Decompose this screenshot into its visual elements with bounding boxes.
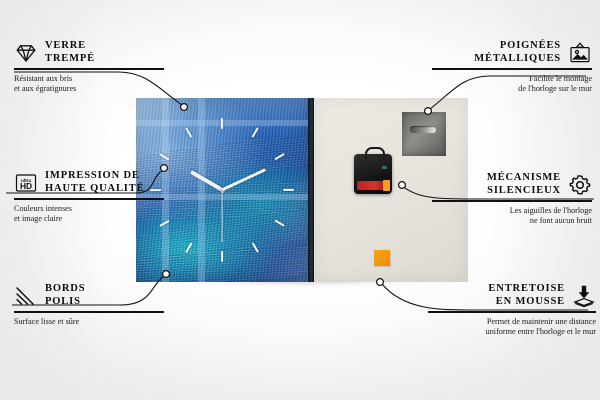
clock-hand-sec [221, 190, 222, 242]
callout-bords-polis[interactable]: BORDS POLIS Surface lisse et sûre [14, 283, 164, 327]
callout-divider [14, 68, 164, 70]
callout-mecanisme-silencieux[interactable]: MÉCANISME SILENCIEUX Les aiguilles de l'… [432, 172, 592, 226]
ultra-hd-large-text: HD [20, 181, 32, 191]
foam-spacer-pad [374, 250, 390, 266]
movement-hook-loop [365, 147, 385, 159]
clock-hour-marker [252, 242, 259, 253]
foam-spacer-icon [572, 284, 596, 308]
callout-desc-line1: Surface lisse et sûre [14, 317, 79, 326]
callout-title-line2: HAUTE QUALITÉ [45, 183, 144, 194]
callout-desc-line2: et aux égratignures [14, 84, 76, 93]
callout-title-line2: EN MOUSSE [496, 296, 565, 307]
callout-desc-line2: ne font aucun bruit [530, 216, 592, 225]
clock-hand-hour [190, 170, 223, 191]
callout-desc-line1: Permet de maintenir une distance [487, 317, 596, 326]
polished-edge-icon [14, 284, 38, 308]
ultra-hd-icon: ultra HD [14, 171, 38, 195]
clock-hour-marker [252, 127, 259, 138]
callout-divider [14, 311, 164, 313]
callout-entretoise-en-mousse[interactable]: ENTRETOISE EN MOUSSE Permet de maintenir… [428, 283, 596, 337]
movement-label [382, 166, 387, 169]
callout-desc-line1: Les aiguilles de l'horloge [510, 206, 592, 215]
callout-desc-line1: Résistant aux bris [14, 74, 72, 83]
clock-hour-marker [159, 153, 170, 160]
battery [357, 181, 389, 190]
clock-hour-marker [283, 189, 294, 191]
callout-title-line1: MÉCANISME [487, 172, 561, 183]
hanger-keyhole-slot [410, 126, 436, 133]
diamond-icon [14, 41, 38, 65]
callout-desc-line1: Facilite le montage [529, 74, 592, 83]
clock-hour-marker [185, 127, 192, 138]
callout-title-line2: MÉTALLIQUES [474, 53, 561, 64]
callout-title-line1: VERRE [45, 40, 86, 51]
gear-icon [568, 173, 592, 197]
callout-desc-line2: et image claire [14, 214, 62, 223]
clock-hour-marker [221, 118, 223, 129]
callout-title-line1: ENTRETOISE [488, 283, 565, 294]
clock-hand-min [221, 168, 266, 191]
callout-desc-line2: de l'horloge sur le mur [518, 84, 592, 93]
metal-hanger-plate [402, 112, 446, 156]
callout-title-line1: IMPRESSION DE [45, 170, 140, 181]
callout-divider [432, 68, 592, 70]
callout-divider [432, 200, 592, 202]
callout-poignees-metalliques[interactable]: POIGNÉES MÉTALLIQUES Facilite le montage… [432, 40, 592, 94]
callout-title-line1: POIGNÉES [500, 40, 561, 51]
callout-title-line1: BORDS [45, 283, 85, 294]
callout-title-line2: POLIS [45, 296, 81, 307]
hanging-frame-icon [568, 41, 592, 65]
callout-title-line2: SILENCIEUX [487, 185, 561, 196]
callout-divider [428, 311, 596, 313]
clock-movement-box [354, 154, 392, 194]
clock-hour-marker [185, 242, 192, 253]
callout-divider [14, 198, 164, 200]
infographic-canvas: VERRE TREMPÉ Résistant aux bris et aux é… [0, 0, 600, 400]
product-image [136, 98, 468, 282]
clock-hour-marker [274, 220, 285, 227]
callout-verre-trempe[interactable]: VERRE TREMPÉ Résistant aux bris et aux é… [14, 40, 164, 94]
callout-desc-line2: uniforme entre l'horloge et le mur [486, 327, 596, 336]
battery-terminal [383, 180, 390, 191]
clock-hour-marker [221, 251, 223, 262]
callout-impression-haute-qualite[interactable]: ultra HD IMPRESSION DE HAUTE QUALITÉ Cou… [14, 170, 164, 224]
callout-desc-line1: Couleurs intenses [14, 204, 72, 213]
clock-hour-marker [274, 153, 285, 160]
callout-title-line2: TREMPÉ [45, 53, 95, 64]
